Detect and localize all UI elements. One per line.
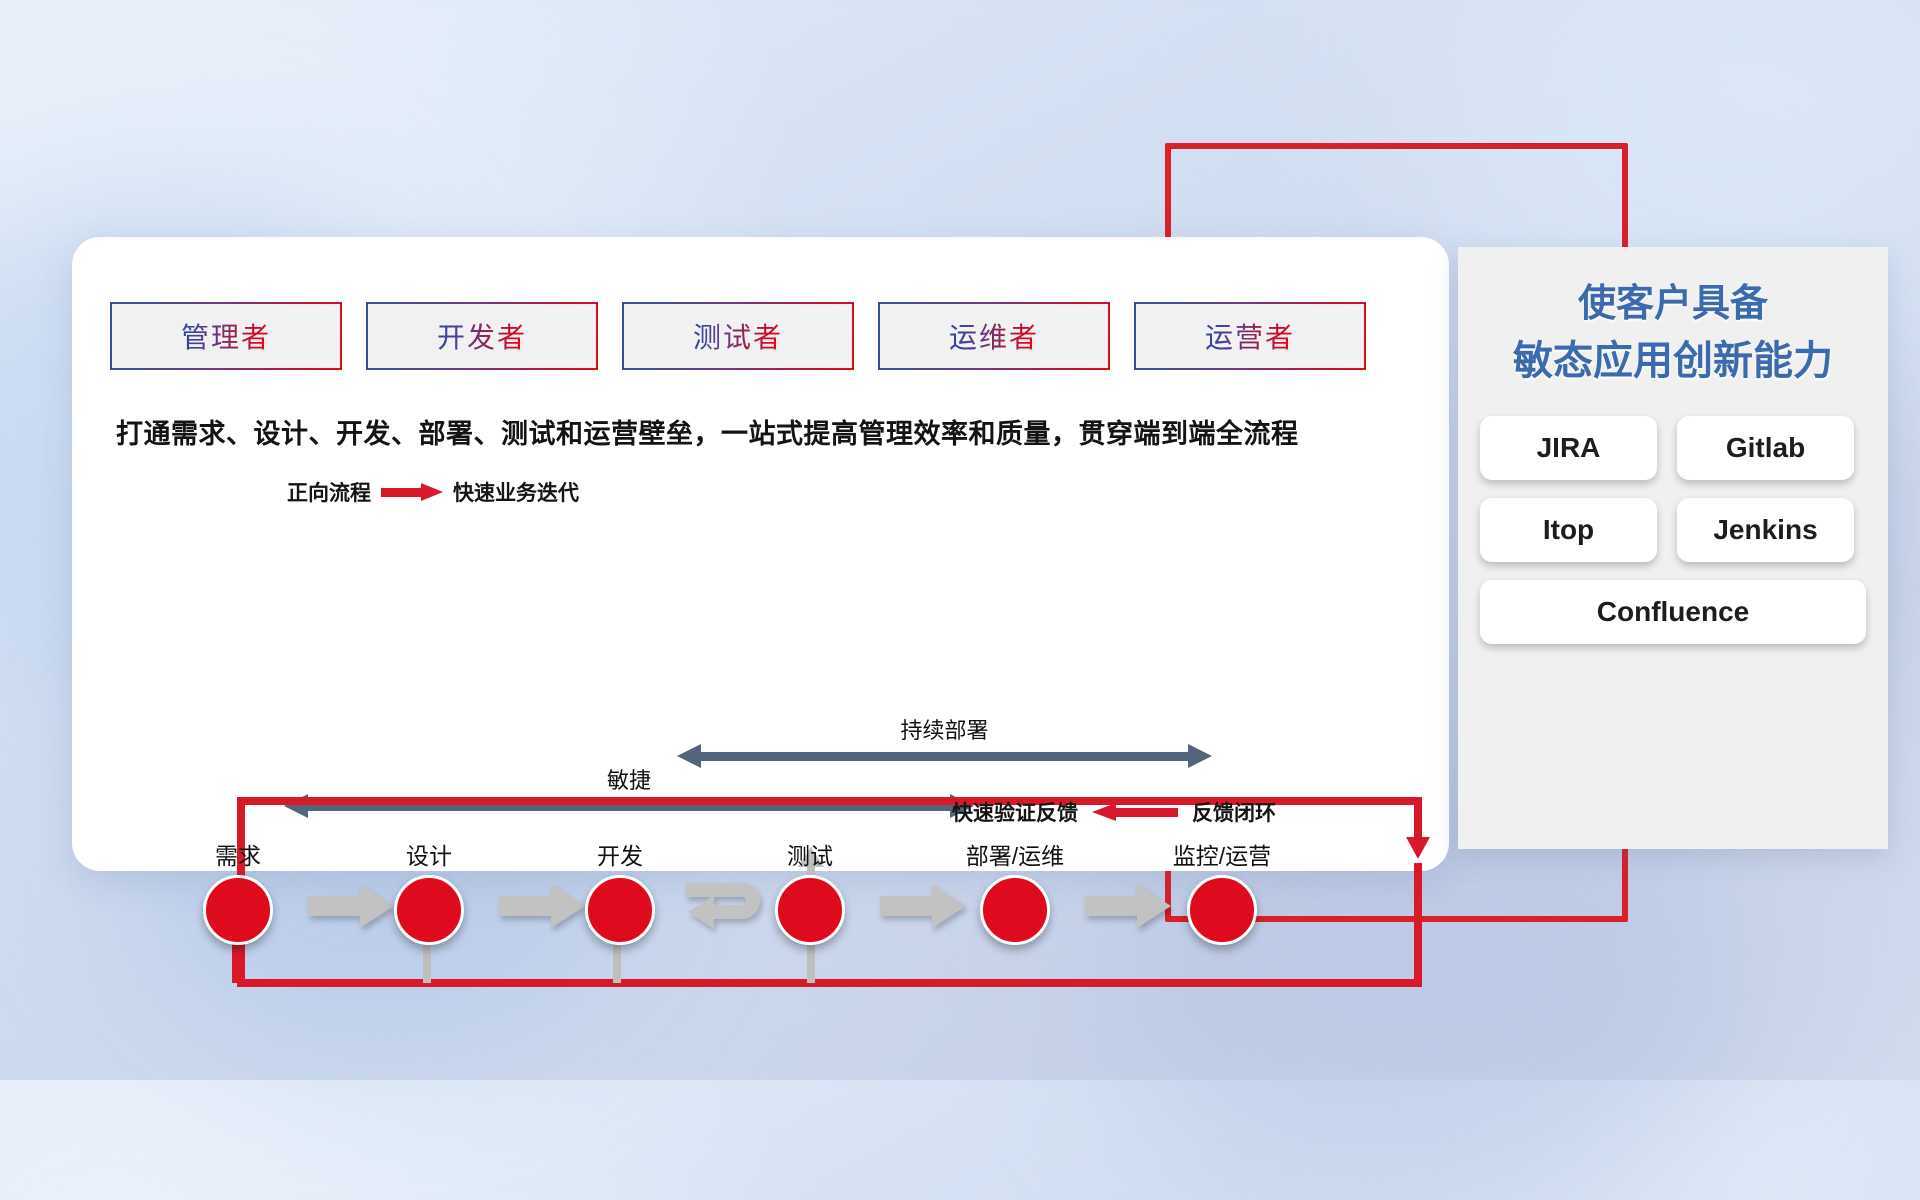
- flow-arrow-3-icon: [880, 883, 966, 929]
- capability-panel: 使客户具备 敏态应用创新能力 JIRA Gitlab Itop Jenkins …: [1458, 247, 1888, 849]
- role-label: 管理者: [181, 316, 271, 356]
- stage-label: 需求: [178, 837, 298, 871]
- role-box-operations[interactable]: 运营者: [1134, 302, 1366, 370]
- stage-label: 监控/运营: [1162, 837, 1282, 871]
- role-box-ops[interactable]: 运维者: [878, 302, 1110, 370]
- tool-chip-itop[interactable]: Itop: [1480, 498, 1657, 562]
- role-label: 运营者: [1205, 316, 1295, 356]
- feeder-arrow-monitor: [1414, 863, 1422, 983]
- headline-text: 打通需求、设计、开发、部署、测试和运营壁垒，一站式提高管理效率和质量，贯穿端到端…: [116, 412, 1416, 451]
- stage-dot: [775, 875, 845, 945]
- stage-design[interactable]: 设计: [369, 837, 489, 945]
- stage-label: 测试: [750, 837, 870, 871]
- legend-forward-flow: 正向流程 快速业务迭代: [287, 477, 579, 507]
- stage-deploy-ops[interactable]: 部署/运维: [955, 837, 1075, 945]
- tool-chip-jira[interactable]: JIRA: [1480, 416, 1657, 480]
- arrow-left-red-icon: [1092, 803, 1178, 821]
- legend-feedback-right-label: 反馈闭环: [1192, 797, 1276, 827]
- role-box-developer[interactable]: 开发者: [366, 302, 598, 370]
- legend-feedback-left-label: 快速验证反馈: [952, 797, 1078, 827]
- role-box-tester[interactable]: 测试者: [622, 302, 854, 370]
- stage-test[interactable]: 测试: [750, 837, 870, 945]
- panel-title: 使客户具备 敏态应用创新能力: [1458, 277, 1888, 390]
- span-arrow-label: 敏捷: [284, 763, 974, 795]
- role-box-row: 管理者 开发者 测试者 运维者 运营者: [110, 302, 1366, 370]
- role-label: 开发者: [437, 316, 527, 356]
- stage-dot: [203, 875, 273, 945]
- tool-chip-jenkins[interactable]: Jenkins: [1677, 498, 1854, 562]
- span-arrow-label: 持续部署: [677, 713, 1212, 745]
- legend-forward-left-label: 正向流程: [287, 477, 371, 507]
- tool-chip-list: JIRA Gitlab Itop Jenkins Confluence: [1458, 416, 1888, 644]
- pipeline-row: 需求 设计 开发 测试: [110, 837, 1410, 947]
- role-box-manager[interactable]: 管理者: [110, 302, 342, 370]
- stage-dot: [394, 875, 464, 945]
- span-arrow-continuous-deployment: 持续部署: [677, 717, 1212, 767]
- panel-title-line-2: 敏态应用创新能力: [1458, 332, 1888, 390]
- stage-dot: [585, 875, 655, 945]
- tool-chip-gitlab[interactable]: Gitlab: [1677, 416, 1854, 480]
- stage-label: 开发: [560, 837, 680, 871]
- stage-dot: [1187, 875, 1257, 945]
- stage-label: 设计: [369, 837, 489, 871]
- tool-chip-confluence[interactable]: Confluence: [1480, 580, 1866, 644]
- legend-feedback-loop: 快速验证反馈 反馈闭环: [952, 797, 1276, 827]
- role-label: 运维者: [949, 316, 1039, 356]
- stage-label: 部署/运维: [955, 837, 1075, 871]
- arrow-shaft: [699, 752, 1190, 761]
- role-label: 测试者: [693, 316, 783, 356]
- panel-title-line-1: 使客户具备: [1458, 277, 1888, 332]
- devops-overview-card: 管理者 开发者 测试者 运维者 运营者 打通需求、设计、开发、部署、测试和运营壁…: [72, 237, 1449, 871]
- arrow-head-right-icon: [1188, 744, 1212, 768]
- stage-dot: [980, 875, 1050, 945]
- stage-development[interactable]: 开发: [560, 837, 680, 945]
- flow-arrow-4-icon: [1085, 883, 1171, 929]
- stage-monitor-operations[interactable]: 监控/运营: [1162, 837, 1282, 945]
- loop-bottom-segment: [237, 979, 1422, 987]
- legend-forward-right-label: 快速业务迭代: [453, 477, 579, 507]
- stage-requirement[interactable]: 需求: [178, 837, 298, 945]
- arrow-right-red-icon: [381, 483, 443, 501]
